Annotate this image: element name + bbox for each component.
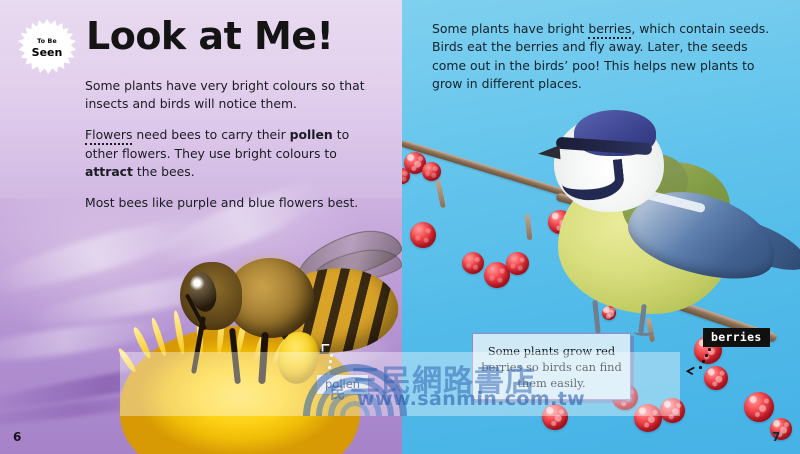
term-pollen: pollen [290, 127, 333, 142]
berry [462, 252, 484, 274]
paragraph-3: Most bees like purple and blue flowers b… [85, 194, 385, 212]
berries-arrow [686, 346, 714, 380]
book-spread: To Be Seen Look at Me! Some plants have … [0, 0, 800, 454]
term-berries: berries [588, 21, 631, 39]
berry [506, 252, 529, 275]
berry [602, 306, 616, 320]
page-title: Look at Me! [86, 17, 333, 55]
berry [542, 404, 568, 430]
term-flowers: Flowers [85, 127, 132, 145]
page-number-right: 7 [772, 430, 780, 444]
berry [660, 398, 685, 423]
berry [744, 392, 774, 422]
badge-main-line: Seen [18, 46, 76, 59]
caption-box: Some plants grow red berries so birds ca… [472, 333, 631, 400]
paragraph-2: Flowers need bees to carry their pollen … [85, 126, 385, 181]
badge-top-line: To Be [18, 38, 76, 45]
paragraph-1: Some plants have bright berries, which c… [432, 20, 784, 94]
berry [410, 222, 436, 248]
pollen-arrow-head [321, 344, 330, 353]
right-page-body: Some plants have bright berries, which c… [432, 20, 784, 94]
term-attract: attract [85, 164, 133, 179]
page-number-left: 6 [13, 430, 21, 444]
berries-label: berries [703, 328, 770, 347]
pollen-arrow [313, 344, 339, 378]
berry [634, 404, 662, 432]
left-page-body: Some plants have very bright colours so … [85, 77, 385, 225]
blue-tit-illustration [532, 110, 800, 340]
caption-text: Some plants grow red berries so birds ca… [479, 343, 624, 391]
to-be-seen-badge: To Be Seen [18, 19, 76, 77]
berry [422, 162, 441, 181]
berries-arrow-head [686, 366, 695, 375]
bird-beak [538, 145, 561, 161]
paragraph-1: Some plants have very bright colours so … [85, 77, 385, 113]
